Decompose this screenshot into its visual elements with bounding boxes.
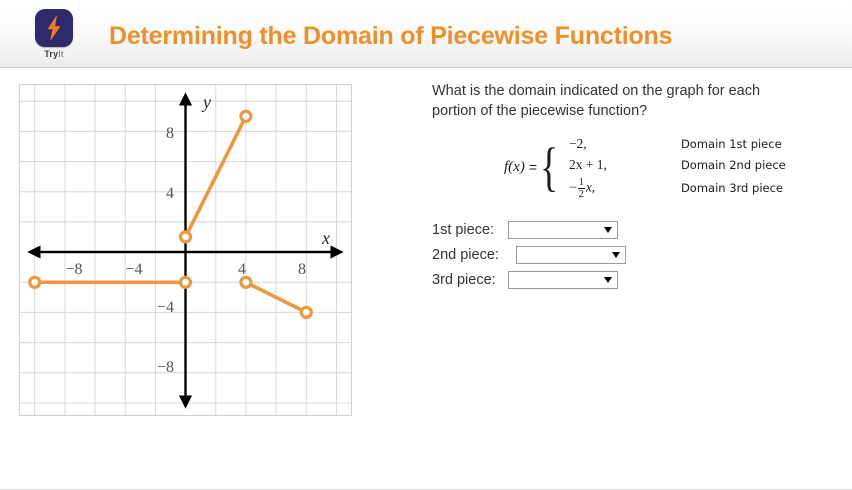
svg-text:8: 8 bbox=[166, 125, 174, 142]
logo-caption-light: It bbox=[58, 49, 63, 59]
try-it-logo: TryIt bbox=[28, 9, 80, 59]
second-piece-select-value bbox=[517, 247, 625, 249]
second-piece-label: 2nd piece: bbox=[432, 247, 516, 263]
logo-caption-bold: Try bbox=[44, 49, 58, 59]
svg-text:−8: −8 bbox=[65, 261, 82, 278]
piecewise-function-definition: f(x) = { −2, Domain 1st piece 2x + 1, Do… bbox=[504, 133, 832, 201]
second-piece-select[interactable] bbox=[516, 246, 626, 264]
logo-tile bbox=[35, 9, 73, 47]
answer-row-third: 3rd piece: bbox=[432, 271, 832, 289]
y-axis-label: y bbox=[201, 92, 211, 112]
endpoint-p1-right bbox=[181, 277, 191, 287]
function-cases: −2, Domain 1st piece 2x + 1, Domain 2nd … bbox=[569, 133, 786, 201]
svg-text:−8: −8 bbox=[157, 359, 174, 376]
answers-section: 1st piece: 2nd piece: 3rd piece: bbox=[432, 221, 832, 289]
logo-caption: TryIt bbox=[28, 49, 80, 59]
chevron-down-icon bbox=[604, 227, 612, 233]
case-expression-1: −2, bbox=[569, 136, 681, 152]
case-domain-2: Domain 2nd piece bbox=[681, 158, 786, 172]
case-domain-1: Domain 1st piece bbox=[681, 137, 782, 151]
case-row-2: 2x + 1, Domain 2nd piece bbox=[569, 154, 786, 175]
endpoint-p1-left bbox=[30, 277, 40, 287]
fraction-numerator: 1 bbox=[578, 177, 585, 189]
fraction-denominator: 2 bbox=[578, 189, 585, 200]
case-3-minus: − bbox=[569, 179, 577, 194]
svg-text:8: 8 bbox=[298, 261, 306, 278]
svg-text:4: 4 bbox=[166, 185, 174, 202]
function-label: f(x) bbox=[504, 159, 525, 176]
answer-row-first: 1st piece: bbox=[432, 221, 832, 239]
case-expression-3: −12x, bbox=[569, 177, 681, 200]
graph-svg: y x −8 −4 4 8 8 4 −4 −8 bbox=[19, 84, 352, 416]
case-row-3: −12x, Domain 3rd piece bbox=[569, 175, 786, 201]
svg-text:−4: −4 bbox=[157, 299, 174, 316]
case-domain-3: Domain 3rd piece bbox=[681, 181, 783, 195]
case-row-1: −2, Domain 1st piece bbox=[569, 133, 786, 154]
answer-row-second: 2nd piece: bbox=[432, 246, 832, 264]
third-piece-select[interactable] bbox=[508, 271, 618, 289]
one-half-fraction: 12 bbox=[578, 177, 585, 200]
chevron-down-icon bbox=[612, 252, 620, 258]
question-panel: What is the domain indicated on the grap… bbox=[432, 82, 832, 296]
case-3-variable: x, bbox=[586, 179, 595, 194]
svg-text:−4: −4 bbox=[125, 261, 142, 278]
page-header: TryIt Determining the Domain of Piecewis… bbox=[0, 0, 852, 68]
svg-text:4: 4 bbox=[238, 261, 246, 278]
endpoint-p3-right bbox=[301, 307, 311, 317]
third-piece-select-value bbox=[509, 272, 617, 274]
third-piece-label: 3rd piece: bbox=[432, 272, 508, 288]
endpoint-p3-left bbox=[241, 277, 251, 287]
first-piece-select[interactable] bbox=[508, 221, 618, 239]
x-axis-label: x bbox=[321, 228, 330, 248]
first-piece-label: 1st piece: bbox=[432, 222, 508, 238]
first-piece-select-value bbox=[509, 222, 617, 224]
question-text: What is the domain indicated on the grap… bbox=[432, 82, 804, 121]
case-expression-2: 2x + 1, bbox=[569, 157, 681, 173]
lightning-bolt-icon bbox=[43, 15, 65, 41]
endpoint-p2-right bbox=[241, 111, 251, 121]
page-title: Determining the Domain of Piecewise Func… bbox=[109, 22, 672, 51]
endpoint-p2-left bbox=[181, 232, 191, 242]
piecewise-function-graph: y x −8 −4 4 8 8 4 −4 −8 bbox=[19, 84, 352, 416]
left-brace: { bbox=[540, 145, 558, 189]
equals-sign: = bbox=[529, 159, 537, 175]
chevron-down-icon bbox=[604, 277, 612, 283]
